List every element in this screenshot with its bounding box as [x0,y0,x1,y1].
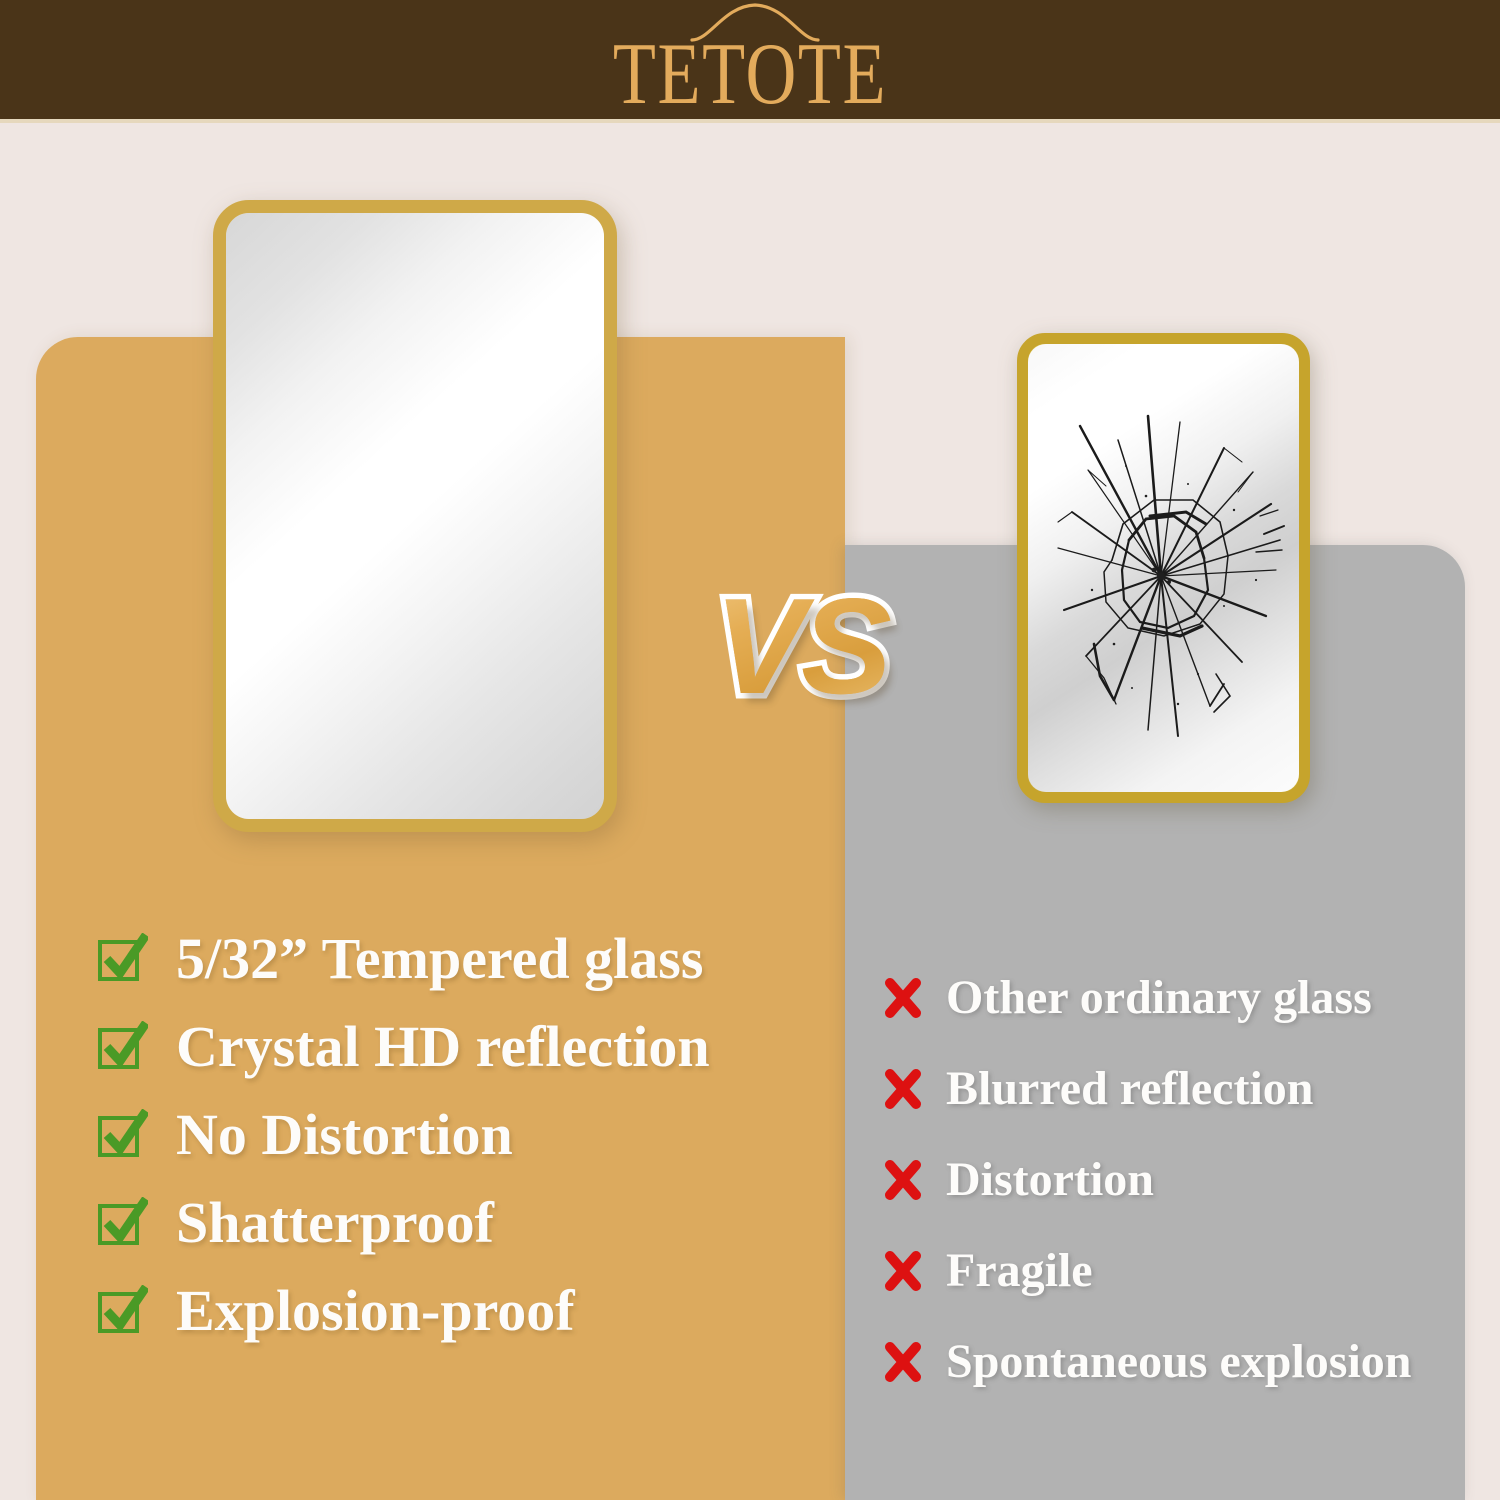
list-item-label: Blurred reflection [946,1064,1313,1114]
check-box-icon [96,1021,148,1073]
check-box-icon [96,1109,148,1161]
list-item-label: Spontaneous explosion [946,1337,1412,1387]
ordinary-glass-mirror-image [1017,333,1310,803]
list-item-label: Distortion [946,1155,1154,1205]
list-item: Explosion-proof [96,1267,816,1355]
mirror-glass-bad [1028,344,1299,792]
check-box-icon [96,1285,148,1337]
cross-mark-icon [884,1249,922,1293]
check-box-icon [96,933,148,985]
list-item: Blurred reflection [884,1043,1464,1134]
list-item-label: No Distortion [176,1105,513,1165]
versus-label: VS [676,566,926,726]
pros-feature-list: 5/32” Tempered glass Crystal HD reflecti… [96,915,816,1355]
list-item-label: Other ordinary glass [946,973,1372,1023]
mirror-glass-good [226,213,604,819]
brand-header-bar: TETOTE [0,0,1500,119]
list-item-label: 5/32” Tempered glass [176,929,703,989]
tempered-glass-mirror-image [213,200,617,832]
brand-wordmark: TETOTE [150,31,1350,119]
list-item: Distortion [884,1134,1464,1225]
versus-badge: VS VS [676,566,926,726]
list-item: Other ordinary glass [884,952,1464,1043]
list-item: Spontaneous explosion [884,1316,1464,1407]
list-item: Shatterproof [96,1179,816,1267]
check-box-icon [96,1197,148,1249]
list-item: 5/32” Tempered glass [96,915,816,1003]
list-item: No Distortion [96,1091,816,1179]
cons-feature-list: Other ordinary glass Blurred reflection … [884,952,1464,1407]
product-comparison-infographic: TETOTE [0,0,1500,1500]
cracked-glass-icon [1028,344,1299,792]
list-item-label: Fragile [946,1246,1093,1296]
list-item-label: Crystal HD reflection [176,1017,710,1077]
cross-mark-icon [884,1340,922,1384]
list-item: Crystal HD reflection [96,1003,816,1091]
cross-mark-icon [884,1067,922,1111]
list-item-label: Shatterproof [176,1193,494,1253]
brand-logo: TETOTE [0,0,1500,119]
list-item-label: Explosion-proof [176,1281,575,1341]
brand-header-underline [0,119,1500,123]
cross-mark-icon [884,1158,922,1202]
cross-mark-icon [884,976,922,1020]
list-item: Fragile [884,1225,1464,1316]
